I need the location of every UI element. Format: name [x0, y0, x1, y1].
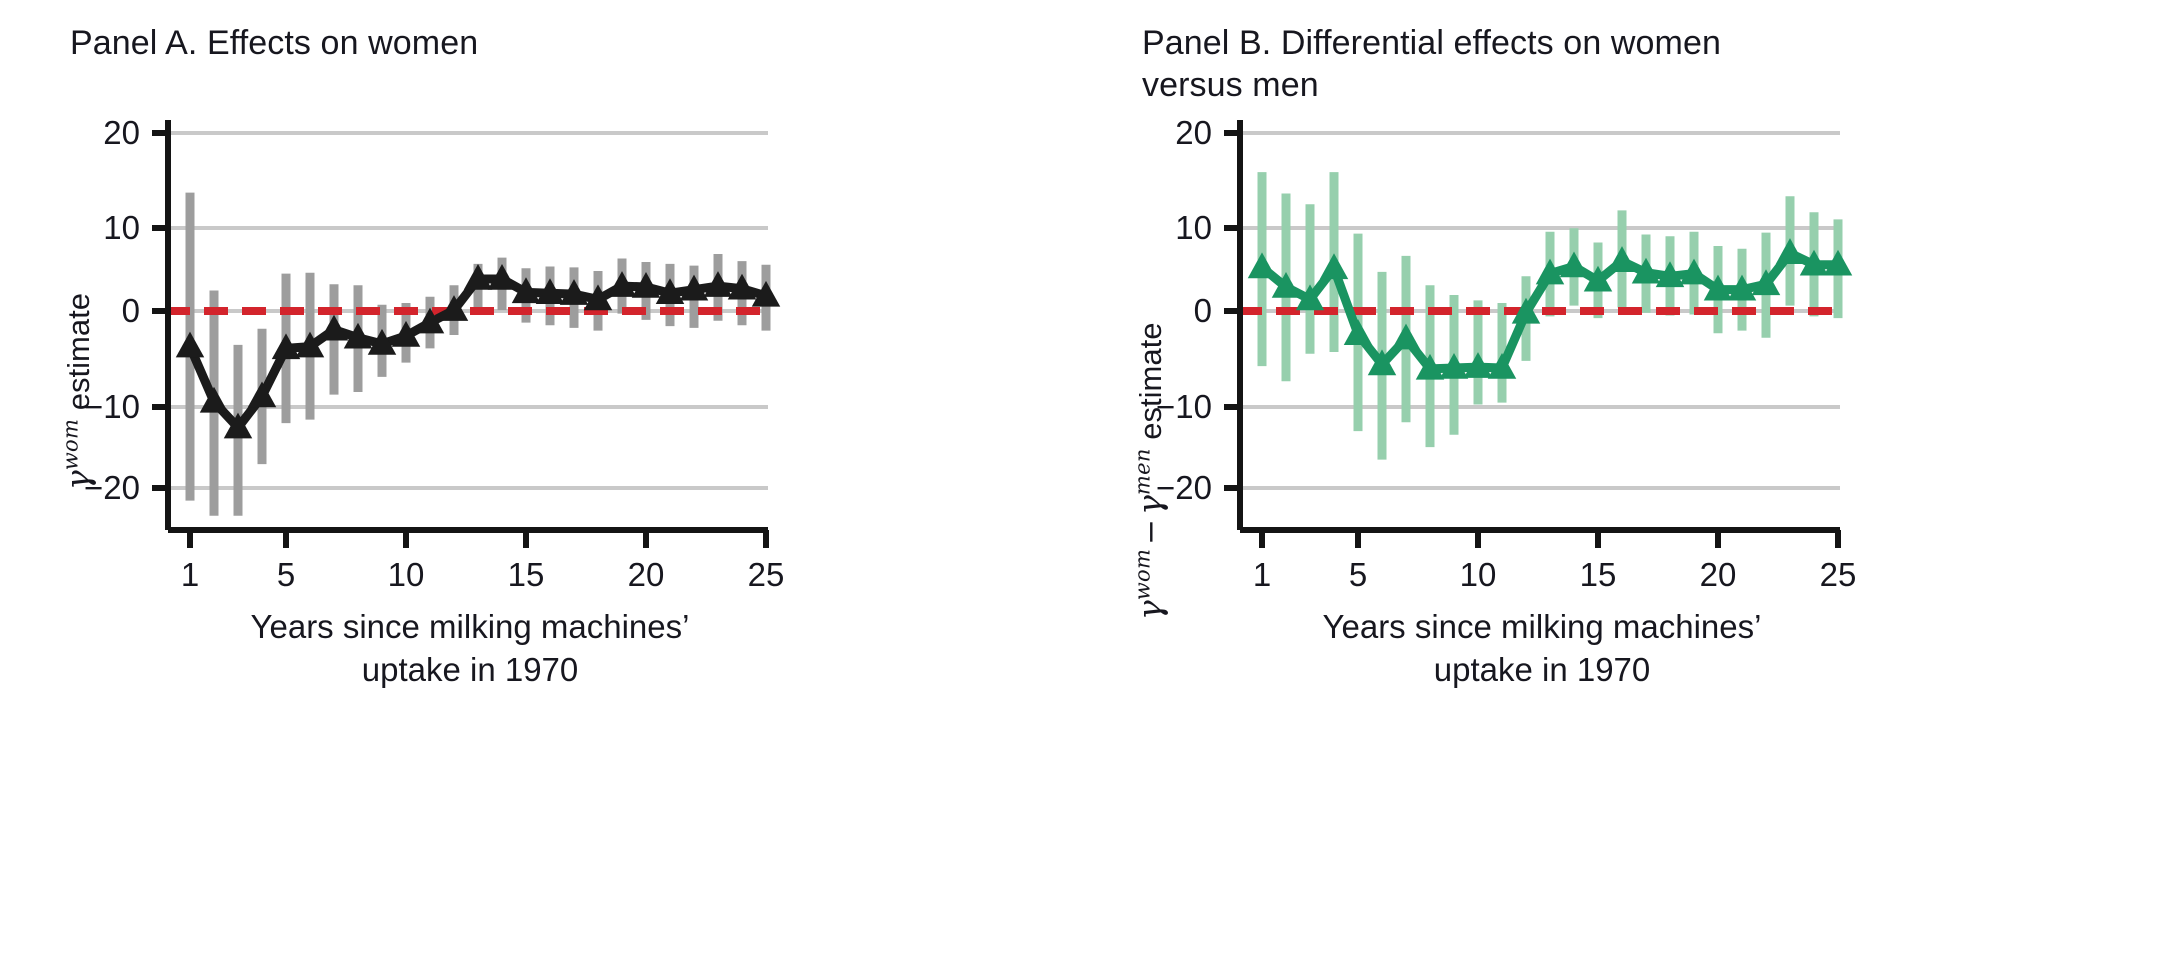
panel-b-ytick-0: 0: [1132, 292, 1212, 330]
panel-b-xtick-5: 5: [1349, 556, 1367, 594]
panel-a-svg: [0, 0, 1080, 976]
data-point-marker: [1776, 238, 1805, 264]
panel-a-xtick-10: 10: [388, 556, 425, 594]
panel-b-xtick-25: 25: [1820, 556, 1857, 594]
figure-root: Panel A. Effects on women γwom estimate: [0, 0, 2160, 976]
data-point-marker: [1248, 252, 1277, 278]
panel-b-ytick-n20: −20: [1112, 469, 1212, 507]
panel-a-ytick-n10: −10: [40, 388, 140, 426]
data-point-marker: [200, 387, 229, 413]
panel-a-ytick-20: 20: [60, 114, 140, 152]
panel-a-xtick-1: 1: [181, 556, 199, 594]
panel-b-ytick-20: 20: [1132, 114, 1212, 152]
panel-a-x-axis-label: Years since milking machines’ uptake in …: [168, 605, 772, 691]
panel-b-x-axis-label: Years since milking machines’ uptake in …: [1240, 605, 1844, 691]
data-point-marker: [320, 315, 349, 341]
panel-a-ytick-n20: −20: [40, 469, 140, 507]
panel-b-svg: [1080, 0, 2160, 976]
panel-a-ytick-10: 10: [60, 209, 140, 247]
panel-a-ytick-0: 0: [60, 292, 140, 330]
data-point-marker: [176, 332, 205, 358]
panel-a-xtick-5: 5: [277, 556, 295, 594]
panel-b-ytick-n10: −10: [1112, 388, 1212, 426]
panel-b-xtick-15: 15: [1580, 556, 1617, 594]
panel-b-xtick-10: 10: [1460, 556, 1497, 594]
panel-b-ytick-10: 10: [1132, 209, 1212, 247]
panel-a-xtick-25: 25: [748, 556, 785, 594]
data-point-marker: [1320, 253, 1349, 279]
data-point-marker: [1560, 252, 1589, 278]
panel-a-plot: 20 10 0 −10 −20 1 5 10 15 20 25 Years si…: [0, 0, 1080, 976]
data-point-marker: [1608, 246, 1637, 272]
panel-b: Panel B. Differential effects on women v…: [1080, 0, 2160, 976]
panel-b-xtick-20: 20: [1700, 556, 1737, 594]
data-point-marker: [1392, 324, 1421, 350]
panel-b-axes: [1224, 120, 1840, 548]
panel-a-axes: [152, 120, 768, 548]
panel-b-xtick-1: 1: [1253, 556, 1271, 594]
panel-a-xtick-20: 20: [628, 556, 665, 594]
data-point-marker: [1344, 319, 1373, 345]
panel-b-plot: 20 10 0 −10 −20 1 5 10 15 20 25 Years si…: [1080, 0, 2160, 976]
panel-a-xtick-15: 15: [508, 556, 545, 594]
panel-a: Panel A. Effects on women γwom estimate: [0, 0, 1080, 976]
